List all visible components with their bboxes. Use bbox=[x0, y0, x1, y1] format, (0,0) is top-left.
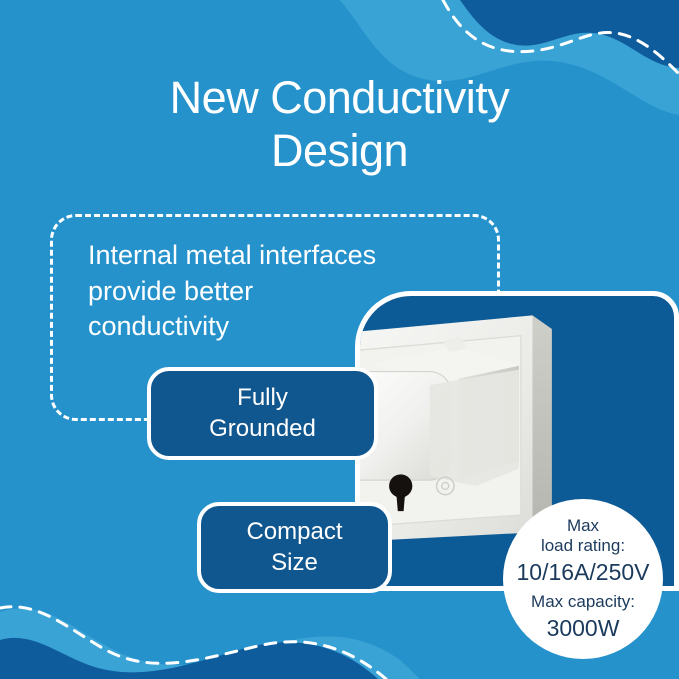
dark-navy-wave-top-icon bbox=[460, 0, 679, 68]
badge-fully-grounded[interactable]: Fully Grounded bbox=[147, 367, 378, 460]
dashed-curve-top-icon bbox=[443, 0, 679, 74]
dashed-curve-bottom-icon bbox=[0, 607, 386, 679]
capacity-value: 3000W bbox=[547, 614, 620, 642]
spec-badge: Max load rating: 10/16A/250V Max capacit… bbox=[503, 499, 663, 659]
adapter-lower-body bbox=[430, 370, 519, 486]
badge-compact-size[interactable]: Compact Size bbox=[197, 502, 392, 593]
wall-outlet-faceplate-edge bbox=[532, 315, 551, 532]
load-rating-value: 10/16A/250V bbox=[516, 558, 649, 586]
infographic-canvas: New Conductivity Design Internal metal i… bbox=[0, 0, 679, 679]
load-rating-label: Max load rating: bbox=[541, 516, 625, 556]
dark-navy-wave-bottom-icon bbox=[0, 638, 378, 679]
capacity-label: Max capacity: bbox=[531, 592, 635, 612]
page-title: New Conductivity Design bbox=[0, 72, 679, 177]
light-blue-wave-bottom-icon bbox=[0, 608, 420, 679]
